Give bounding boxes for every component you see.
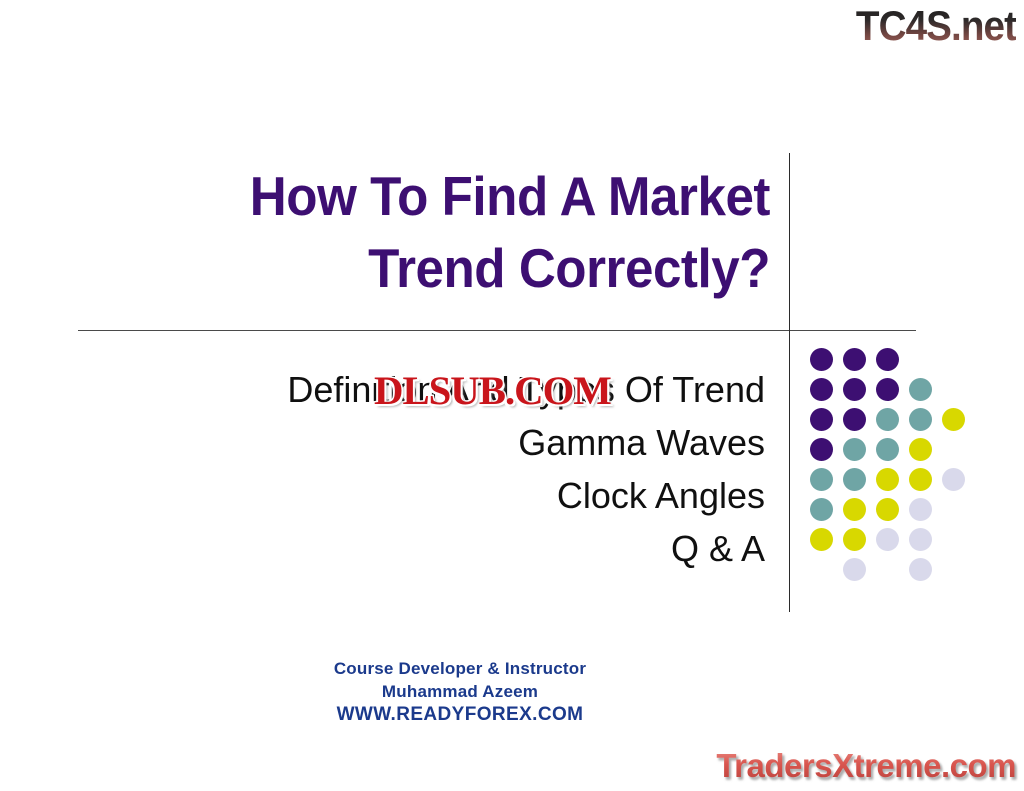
decorative-dot-purple	[810, 378, 833, 401]
decorative-dot-teal	[876, 408, 899, 431]
footer-website-url: WWW.READYFOREX.COM	[0, 703, 920, 726]
slide-title-line-1: How To Find A Market	[128, 160, 770, 232]
slide-title: How To Find A Market Trend Correctly?	[128, 160, 770, 304]
footer-instructor-name: Muhammad Azeem	[0, 680, 920, 703]
decorative-dot-teal	[843, 438, 866, 461]
tc4s-brand-logo: TC4S.net	[856, 2, 1016, 50]
slide-title-line-2: Trend Correctly?	[128, 232, 770, 304]
vertical-divider	[789, 153, 790, 612]
decorative-dot-purple	[876, 378, 899, 401]
decorative-dot-yellow	[876, 498, 899, 521]
decorative-dot-purple	[810, 408, 833, 431]
agenda-item-q-and-a: Q & A	[100, 522, 765, 575]
decorative-dot-yellow	[810, 528, 833, 551]
decorative-dot-yellow	[876, 468, 899, 491]
decorative-dot-yellow	[942, 408, 965, 431]
decorative-dot-yellow	[843, 528, 866, 551]
decorative-dot-lavender	[942, 468, 965, 491]
decorative-dot-lavender	[843, 558, 866, 581]
decorative-dot-purple	[876, 348, 899, 371]
tradersxtreme-brand-logo: TradersXtreme.com	[716, 747, 1016, 785]
decorative-dot-yellow	[909, 468, 932, 491]
horizontal-divider	[78, 330, 916, 331]
agenda-item-clock-angles: Clock Angles	[100, 469, 765, 522]
decorative-dot-teal	[843, 468, 866, 491]
footer-role-line: Course Developer & Instructor	[0, 657, 920, 680]
dlsub-watermark: DLSUB.COM	[374, 371, 611, 411]
decorative-dot-purple	[843, 378, 866, 401]
decorative-dot-purple	[810, 438, 833, 461]
decorative-dot-teal	[810, 468, 833, 491]
decorative-dot-teal	[810, 498, 833, 521]
footer-credits: Course Developer & Instructor Muhammad A…	[0, 657, 920, 726]
decorative-dot-purple	[843, 408, 866, 431]
decorative-dot-yellow	[843, 498, 866, 521]
decorative-dot-lavender	[909, 528, 932, 551]
decorative-dot-lavender	[909, 558, 932, 581]
decorative-dot-teal	[909, 378, 932, 401]
decorative-dot-teal	[876, 438, 899, 461]
decorative-dot-lavender	[909, 498, 932, 521]
decorative-dot-lavender	[876, 528, 899, 551]
decorative-dot-matrix	[810, 348, 960, 588]
decorative-dot-purple	[843, 348, 866, 371]
decorative-dot-purple	[810, 348, 833, 371]
decorative-dot-yellow	[909, 438, 932, 461]
decorative-dot-teal	[909, 408, 932, 431]
agenda-item-gamma-waves: Gamma Waves	[100, 416, 765, 469]
